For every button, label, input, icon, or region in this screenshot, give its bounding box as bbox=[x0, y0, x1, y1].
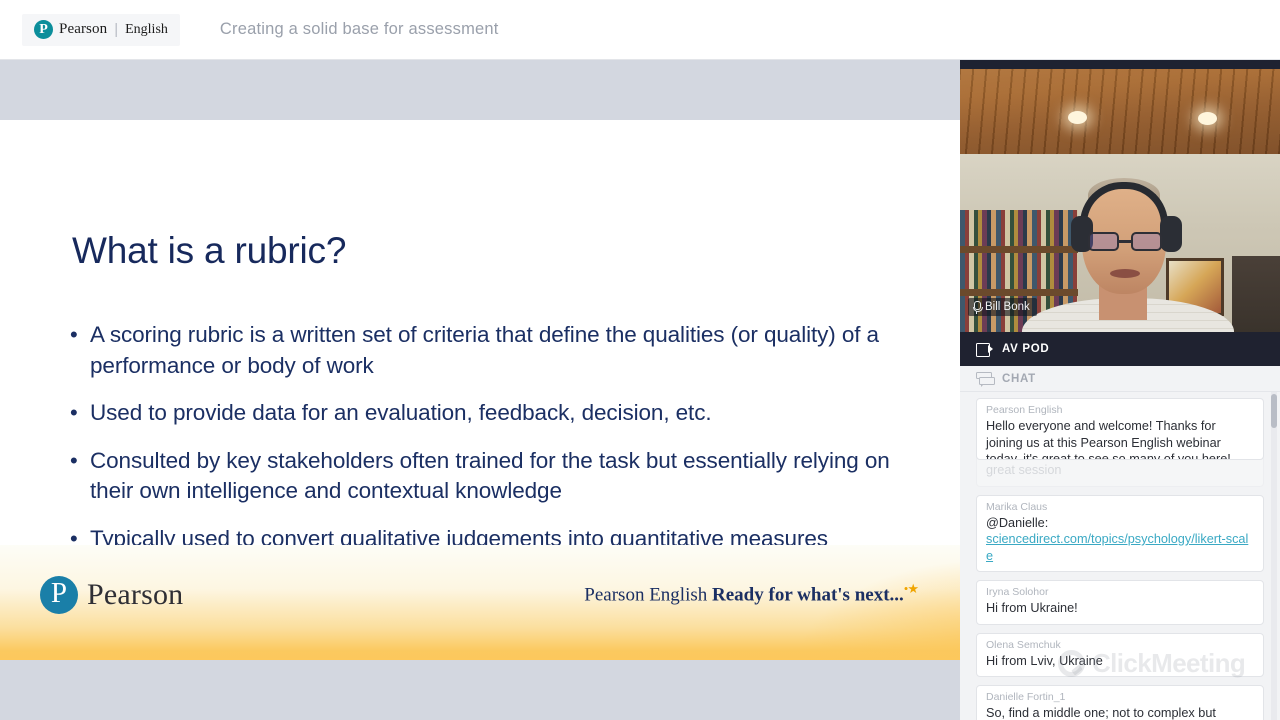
bullet-marker-icon: • bbox=[70, 446, 90, 507]
tagline-bold: Ready for what's next... bbox=[712, 584, 904, 605]
message-author: Pearson English bbox=[986, 404, 1254, 416]
slide-title: What is a rubric? bbox=[72, 230, 346, 272]
chat-message[interactable]: Danielle Fortin_1 So, find a middle one;… bbox=[976, 685, 1264, 720]
brand-word: Pearson bbox=[59, 21, 107, 38]
bullet-marker-icon: • bbox=[70, 320, 90, 381]
chat-bubble-icon bbox=[976, 372, 993, 385]
slide-canvas[interactable]: What is a rubric? • A scoring rubric is … bbox=[0, 120, 960, 660]
message-author: Danielle Fortin_1 bbox=[986, 691, 1254, 703]
stage-letterbox-top bbox=[0, 60, 960, 120]
tagline-star-icon: •★ bbox=[904, 581, 918, 596]
bullet-text: A scoring rubric is a written set of cri… bbox=[90, 320, 900, 381]
chat-scrollbar-thumb[interactable] bbox=[1271, 394, 1277, 428]
presenter-mouth bbox=[1110, 269, 1140, 278]
chat-pod-label: CHAT bbox=[1002, 373, 1036, 385]
stage-letterbox-bottom bbox=[0, 660, 960, 720]
bullet-item: • Consulted by key stakeholders often tr… bbox=[70, 446, 900, 507]
video-top-edge bbox=[960, 60, 1280, 69]
chat-message[interactable]: Marika Claus @Danielle:sciencedirect.com… bbox=[976, 495, 1264, 573]
pearson-p-icon: P bbox=[40, 576, 78, 614]
chat-message[interactable]: Iryna Solohor Hi from Ukraine! bbox=[976, 580, 1264, 625]
participant-name: Bill Bonk bbox=[985, 301, 1030, 313]
pearson-wordmark: Pearson bbox=[87, 578, 183, 612]
pearson-p-icon: P bbox=[34, 20, 53, 39]
presenter-video-pod[interactable]: Bill Bonk bbox=[960, 60, 1280, 332]
slide-bullet-list: • A scoring rubric is a written set of c… bbox=[70, 320, 900, 571]
presentation-stage[interactable]: What is a rubric? • A scoring rubric is … bbox=[0, 60, 960, 720]
av-pod-header[interactable]: AV POD bbox=[960, 332, 1280, 366]
right-rail: Bill Bonk AV POD CHAT great session Mari… bbox=[960, 0, 1280, 720]
chat-scrollbar-track[interactable] bbox=[1271, 392, 1277, 720]
video-ceiling bbox=[960, 60, 1280, 156]
chat-message[interactable]: Olena Semchuk Hi from Lviv, Ukraine bbox=[976, 633, 1264, 678]
participant-name-badge: Bill Bonk bbox=[968, 298, 1037, 316]
rail-top-strip bbox=[960, 0, 1280, 60]
message-text: @Danielle:sciencedirect.com/topics/psych… bbox=[986, 515, 1254, 565]
message-author: Iryna Solohor bbox=[986, 586, 1254, 598]
message-author: Marika Claus bbox=[986, 501, 1254, 513]
av-pod-label: AV POD bbox=[1002, 343, 1049, 355]
microphone-icon bbox=[972, 301, 981, 314]
message-text: Hello everyone and welcome! Thanks for j… bbox=[986, 418, 1254, 460]
message-text-prefix: @Danielle: bbox=[986, 516, 1048, 530]
slide-footer-band: P Pearson Pearson English Ready for what… bbox=[0, 545, 960, 660]
message-text: great session bbox=[986, 462, 1254, 479]
right-cabinet bbox=[1232, 256, 1280, 332]
bullet-item: • A scoring rubric is a written set of c… bbox=[70, 320, 900, 381]
message-link[interactable]: sciencedirect.com/topics/psychology/like… bbox=[986, 532, 1248, 563]
lens-right bbox=[1131, 232, 1162, 251]
message-text: Hi from Ukraine! bbox=[986, 600, 1254, 617]
eyeglasses bbox=[1088, 232, 1162, 252]
tagline-light: Pearson English bbox=[584, 584, 712, 605]
pinned-chat-message[interactable]: Pearson English Hello everyone and welco… bbox=[976, 398, 1264, 460]
lens-bridge bbox=[1119, 240, 1131, 243]
lens-left bbox=[1088, 232, 1119, 251]
bullet-marker-icon: • bbox=[70, 398, 90, 429]
brand-sub: English bbox=[125, 22, 168, 38]
ceiling-light-icon bbox=[1068, 111, 1087, 124]
pearson-footer-logo: P Pearson bbox=[40, 576, 183, 614]
bullet-text: Used to provide data for an evaluation, … bbox=[90, 398, 712, 429]
bullet-item: • Used to provide data for an evaluation… bbox=[70, 398, 900, 429]
video-camera-icon bbox=[976, 343, 993, 355]
ceiling-light-icon bbox=[1198, 112, 1217, 125]
pearson-tagline: Pearson English Ready for what's next...… bbox=[584, 581, 918, 606]
webinar-title: Creating a solid base for assessment bbox=[220, 20, 499, 39]
message-text: So, find a middle one; not to complex bu… bbox=[986, 705, 1254, 720]
message-author: Olena Semchuk bbox=[986, 639, 1254, 651]
pearson-english-logo: P Pearson | English bbox=[22, 14, 180, 46]
clickmeeting-webinar-room: P Pearson | English Creating a solid bas… bbox=[0, 0, 1280, 720]
chat-pod-header[interactable]: CHAT bbox=[960, 366, 1280, 392]
brand-divider: | bbox=[114, 21, 118, 38]
bullet-text: Consulted by key stakeholders often trai… bbox=[90, 446, 900, 507]
message-text: Hi from Lviv, Ukraine bbox=[986, 653, 1254, 670]
headphone-earcup-right bbox=[1160, 216, 1182, 252]
